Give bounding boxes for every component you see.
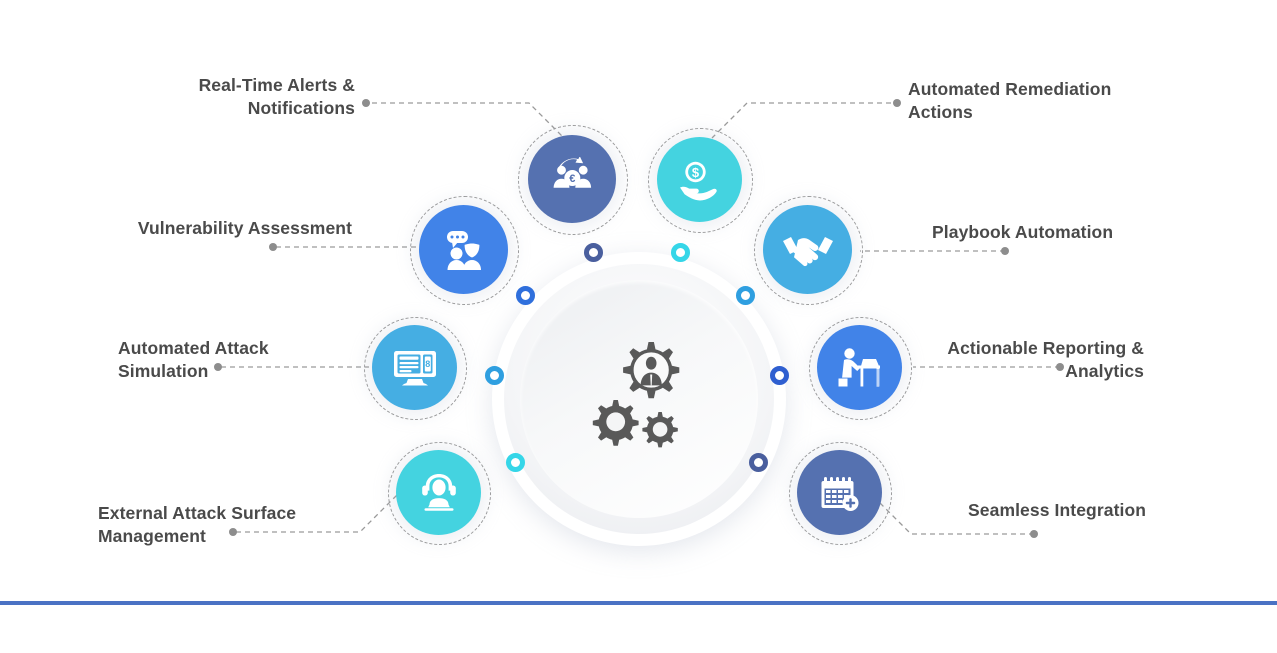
people-chat-bubble-icon [439,227,489,273]
dot-real-time-alerts [362,99,370,107]
marker-mid-right [770,366,789,385]
marker-upper-right [736,286,755,305]
node-automated-attack-simulation[interactable]: 8 [372,325,457,410]
marker-upper-left [516,286,535,305]
label-external-attack-surface: External Attack Surface Management [98,502,338,549]
label-playbook-automation: Playbook Automation [932,221,1172,244]
dot-seamless-integration [1030,530,1038,538]
svg-text:8: 8 [425,359,430,369]
gears-with-person-icon [582,340,702,463]
connector-real-time-alerts [372,103,566,140]
node-vulnerability-assessment[interactable] [419,205,508,294]
node-seamless-integration[interactable] [797,450,882,535]
marker-lower-left [506,453,525,472]
svg-text:€: € [569,173,575,185]
label-vulnerability-assessment: Vulnerability Assessment [70,217,352,240]
bottom-accent-rule [0,601,1277,605]
label-real-time-alerts: Real-Time Alerts & Notifications [150,74,355,121]
infographic-slide: € $ [0,0,1277,653]
label-actionable-reporting: Actionable Reporting & Analytics [920,337,1144,384]
node-actionable-reporting[interactable] [817,325,902,410]
label-automated-attack-simulation: Automated Attack Simulation [118,337,333,384]
node-playbook-automation[interactable] [763,205,852,294]
dot-automated-attack-simulation [214,363,222,371]
dot-playbook-automation [1001,247,1009,255]
desktop-monitor-icon: 8 [391,347,439,389]
label-automated-remediation: Automated Remediation Actions [908,78,1138,125]
dot-vulnerability-assessment [269,243,277,251]
dot-actionable-reporting [1056,363,1064,371]
dot-external-attack-surface [229,528,237,536]
connector-automated-remediation [712,103,900,138]
node-automated-remediation[interactable]: $ [657,137,742,222]
hand-holding-coin-icon: $ [676,159,724,201]
node-real-time-alerts[interactable]: € [528,135,616,223]
marker-top-right [671,243,690,262]
center-disc [520,280,758,518]
calendar-plus-icon [817,471,863,515]
handshake-icon [781,230,835,270]
dot-automated-remediation [893,99,901,107]
person-at-desk-icon [835,346,885,390]
people-currency-exchange-icon: € [547,157,597,201]
node-external-attack-surface[interactable] [396,450,481,535]
marker-lower-right [749,453,768,472]
headset-support-icon [416,472,462,514]
marker-mid-left [485,366,504,385]
label-seamless-integration: Seamless Integration [968,499,1198,522]
marker-top-left [584,243,603,262]
svg-text:$: $ [691,164,699,179]
